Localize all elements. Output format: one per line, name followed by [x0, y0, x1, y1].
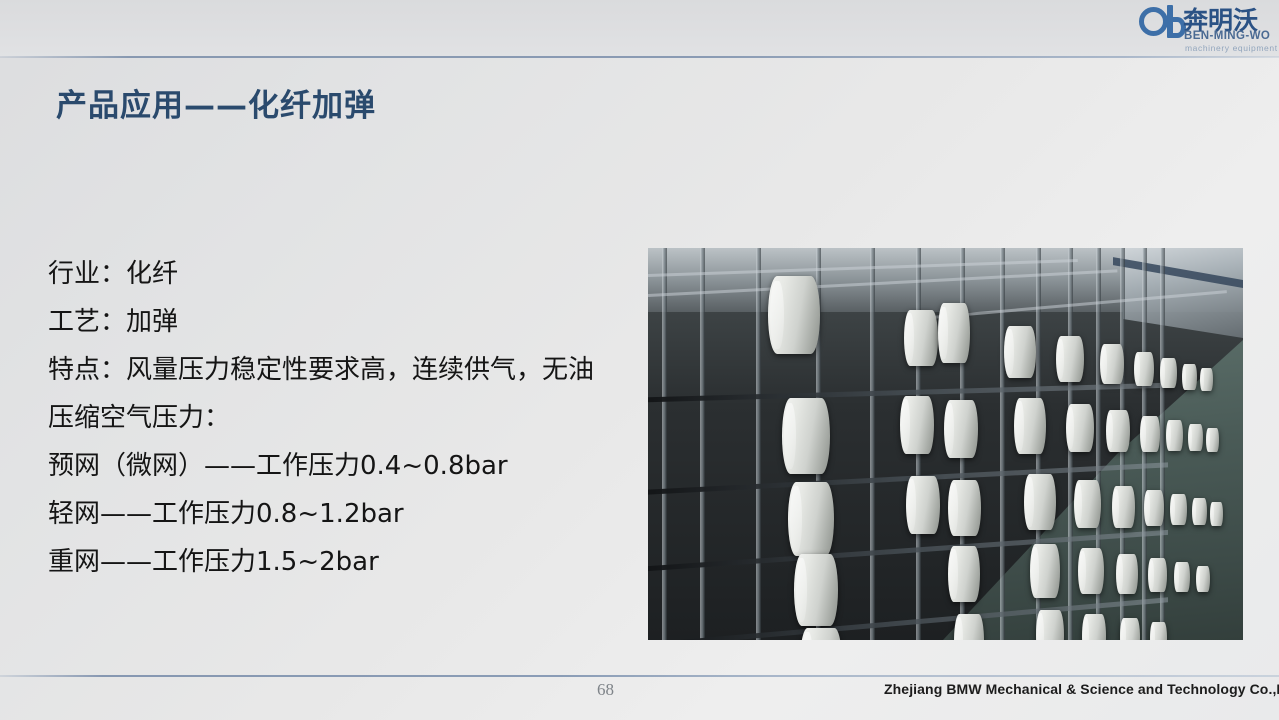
yarn-bobbin — [1182, 364, 1197, 390]
footer-divider — [0, 675, 1279, 677]
rack-column — [1000, 248, 1005, 640]
rack-column — [756, 248, 761, 640]
body-line-pressure-heading: 压缩空气压力： — [48, 394, 608, 442]
yarn-bobbin — [1014, 398, 1046, 454]
logo-latin-name: BEN-MING-WO — [1184, 30, 1270, 42]
yarn-bobbin — [1150, 622, 1167, 640]
yarn-bobbin — [1200, 368, 1213, 391]
yarn-bobbin — [1116, 554, 1138, 594]
photo-scene — [648, 248, 1243, 640]
yarn-bobbin — [1192, 498, 1207, 525]
page-number: 68 — [597, 680, 614, 700]
yarn-bobbin — [1112, 486, 1135, 528]
yarn-bobbin — [1134, 352, 1154, 386]
yarn-bobbin — [948, 546, 980, 602]
factory-photo — [648, 248, 1243, 640]
rack-column — [662, 248, 667, 640]
yarn-bobbin — [1196, 566, 1210, 592]
yarn-bobbin — [782, 398, 830, 474]
yarn-bobbin — [1100, 344, 1124, 384]
yarn-bobbin — [1206, 428, 1219, 452]
yarn-bobbin — [1144, 490, 1164, 526]
yarn-bobbin — [788, 482, 834, 556]
yarn-bobbin — [1082, 614, 1106, 640]
yarn-bobbin — [1004, 326, 1036, 378]
body-line-heavynet: 重网——工作压力1.5~2bar — [48, 538, 608, 586]
yarn-bobbin — [1140, 416, 1160, 452]
body-line-features: 特点：风量压力稳定性要求高，连续供气，无油 — [48, 346, 608, 394]
yarn-bobbin — [1188, 424, 1203, 451]
yarn-bobbin — [768, 276, 820, 354]
yarn-bobbin — [906, 476, 940, 534]
yarn-bobbin — [794, 554, 838, 626]
body-line-prenet: 预网（微网）——工作压力0.4~0.8bar — [48, 442, 608, 490]
yarn-bobbin — [904, 310, 938, 366]
yarn-bobbin — [1066, 404, 1094, 452]
footer-company-name: Zhejiang BMW Mechanical & Science and Te… — [884, 681, 1279, 697]
yarn-bobbin — [1120, 618, 1140, 640]
yarn-bobbin — [1106, 410, 1130, 452]
body-line-lightnet: 轻网——工作压力0.8~1.2bar — [48, 490, 608, 538]
yarn-bobbin — [1170, 494, 1187, 525]
bo-circle-mark-icon — [1139, 5, 1185, 39]
yarn-bobbin — [1024, 474, 1056, 530]
logo-tagline: machinery equipment — [1185, 43, 1278, 53]
yarn-bobbin — [1210, 502, 1223, 526]
yarn-bobbin — [1030, 544, 1060, 598]
company-logo: 奔明沃 BEN-MING-WO machinery equipment — [1139, 3, 1275, 55]
yarn-bobbin — [1036, 610, 1064, 640]
yarn-bobbin — [1078, 548, 1104, 594]
yarn-bobbin — [938, 303, 970, 363]
yarn-bobbin — [800, 628, 842, 640]
page-title: 产品应用——化纤加弹 — [56, 80, 376, 125]
yarn-bobbin — [1056, 336, 1084, 382]
rack-column — [700, 248, 705, 640]
body-line-process: 工艺：加弹 — [48, 298, 608, 346]
yarn-bobbin — [1166, 420, 1183, 451]
header-band — [0, 0, 1279, 57]
yarn-bobbin — [948, 480, 981, 536]
body-line-industry: 行业：化纤 — [48, 250, 608, 298]
yarn-bobbin — [944, 400, 978, 458]
yarn-bobbin — [1148, 558, 1167, 592]
yarn-bobbin — [1074, 480, 1101, 528]
header-divider — [0, 56, 1279, 58]
body-text-block: 行业：化纤 工艺：加弹 特点：风量压力稳定性要求高，连续供气，无油 压缩空气压力… — [48, 250, 608, 586]
logo-ring-shape — [1139, 7, 1168, 36]
rack-column — [870, 248, 875, 640]
yarn-bobbin — [900, 396, 934, 454]
yarn-bobbin — [1174, 562, 1190, 592]
yarn-bobbin — [954, 614, 984, 640]
slide-canvas: 奔明沃 BEN-MING-WO machinery equipment 产品应用… — [0, 0, 1279, 720]
yarn-bobbin — [1160, 358, 1177, 388]
